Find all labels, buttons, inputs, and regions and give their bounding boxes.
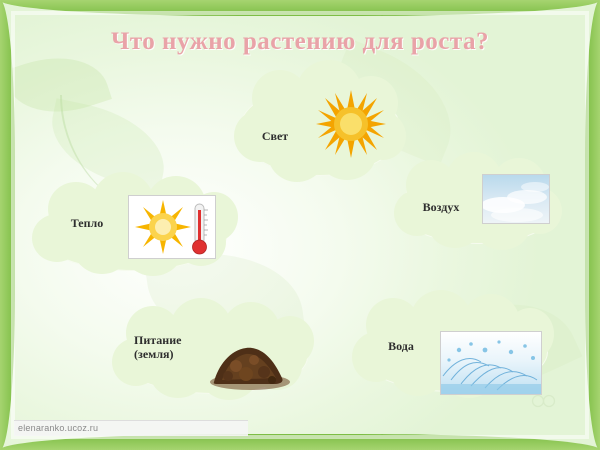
cloud-bump <box>74 224 130 274</box>
frame-left-border <box>0 0 15 450</box>
sky-clouds-image <box>482 174 550 224</box>
soil-pile-image <box>206 330 292 392</box>
slide-canvas: Свет <box>0 0 600 450</box>
water-splash-image <box>440 331 542 395</box>
sun-icon <box>308 84 394 164</box>
cloud-label-teplo: Тепло <box>52 217 122 231</box>
frame-bottom-border <box>0 434 600 450</box>
thermometer-sun-image <box>128 195 216 259</box>
decorative-rings-icon <box>530 394 558 408</box>
frame-right-border <box>585 0 600 450</box>
cloud-label-svet: Свет <box>245 130 305 144</box>
cloud-label-pitanie: Питание (земля) <box>134 334 214 362</box>
cloud-label-vozduh: Воздух <box>405 201 477 215</box>
frame-top-border <box>0 0 600 16</box>
cloud-label-voda: Вода <box>368 340 434 354</box>
watermark-label: elenaranko.ucoz.ru <box>14 420 248 436</box>
page-title: Что нужно растению для роста? <box>0 28 600 56</box>
